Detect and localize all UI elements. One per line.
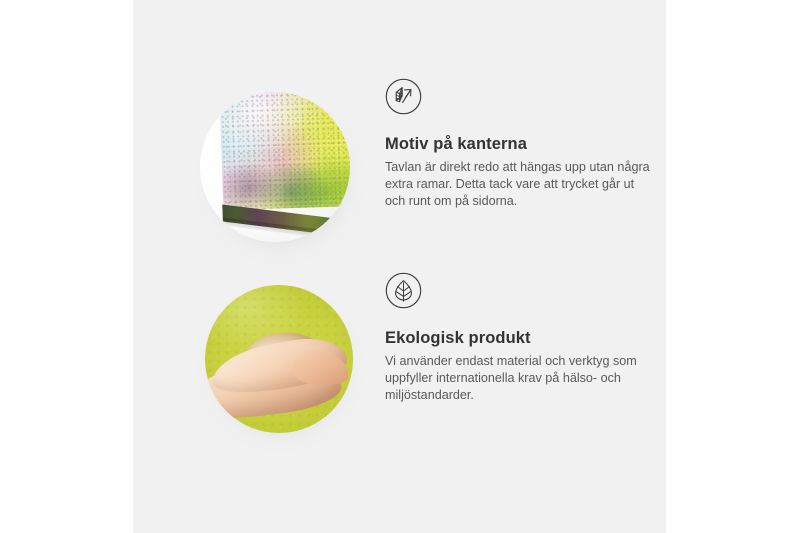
- canvas-block: [219, 92, 350, 242]
- canvas-paint-drip: [222, 151, 350, 210]
- feature-description: Vi använder endast material och verktyg …: [385, 353, 653, 404]
- feature-row-motiv-pa-kanterna: Motiv på kanterna Tavlan är direkt redo …: [133, 78, 666, 268]
- product-feature-banner: Motiv på kanterna Tavlan är direkt redo …: [0, 0, 800, 533]
- hands-holding-wood-chips-photo: [205, 285, 353, 433]
- leaf-icon: [385, 272, 422, 309]
- feature-text-ekologisk-produkt: Ekologisk produkt Vi använder endast mat…: [385, 272, 663, 404]
- canvas-wrapped-edge-icon: [385, 78, 422, 115]
- feature-row-ekologisk-produkt: Ekologisk produkt Vi använder endast mat…: [133, 272, 666, 462]
- feature-description: Tavlan är direkt redo att hängas upp uta…: [385, 159, 653, 210]
- feature-title: Ekologisk produkt: [385, 328, 663, 348]
- feature-title: Motiv på kanterna: [385, 134, 663, 154]
- canvas-print-corner-photo: [200, 92, 350, 242]
- content-panel: Motiv på kanterna Tavlan är direkt redo …: [133, 0, 666, 533]
- feature-text-motiv-pa-kanterna: Motiv på kanterna Tavlan är direkt redo …: [385, 78, 663, 210]
